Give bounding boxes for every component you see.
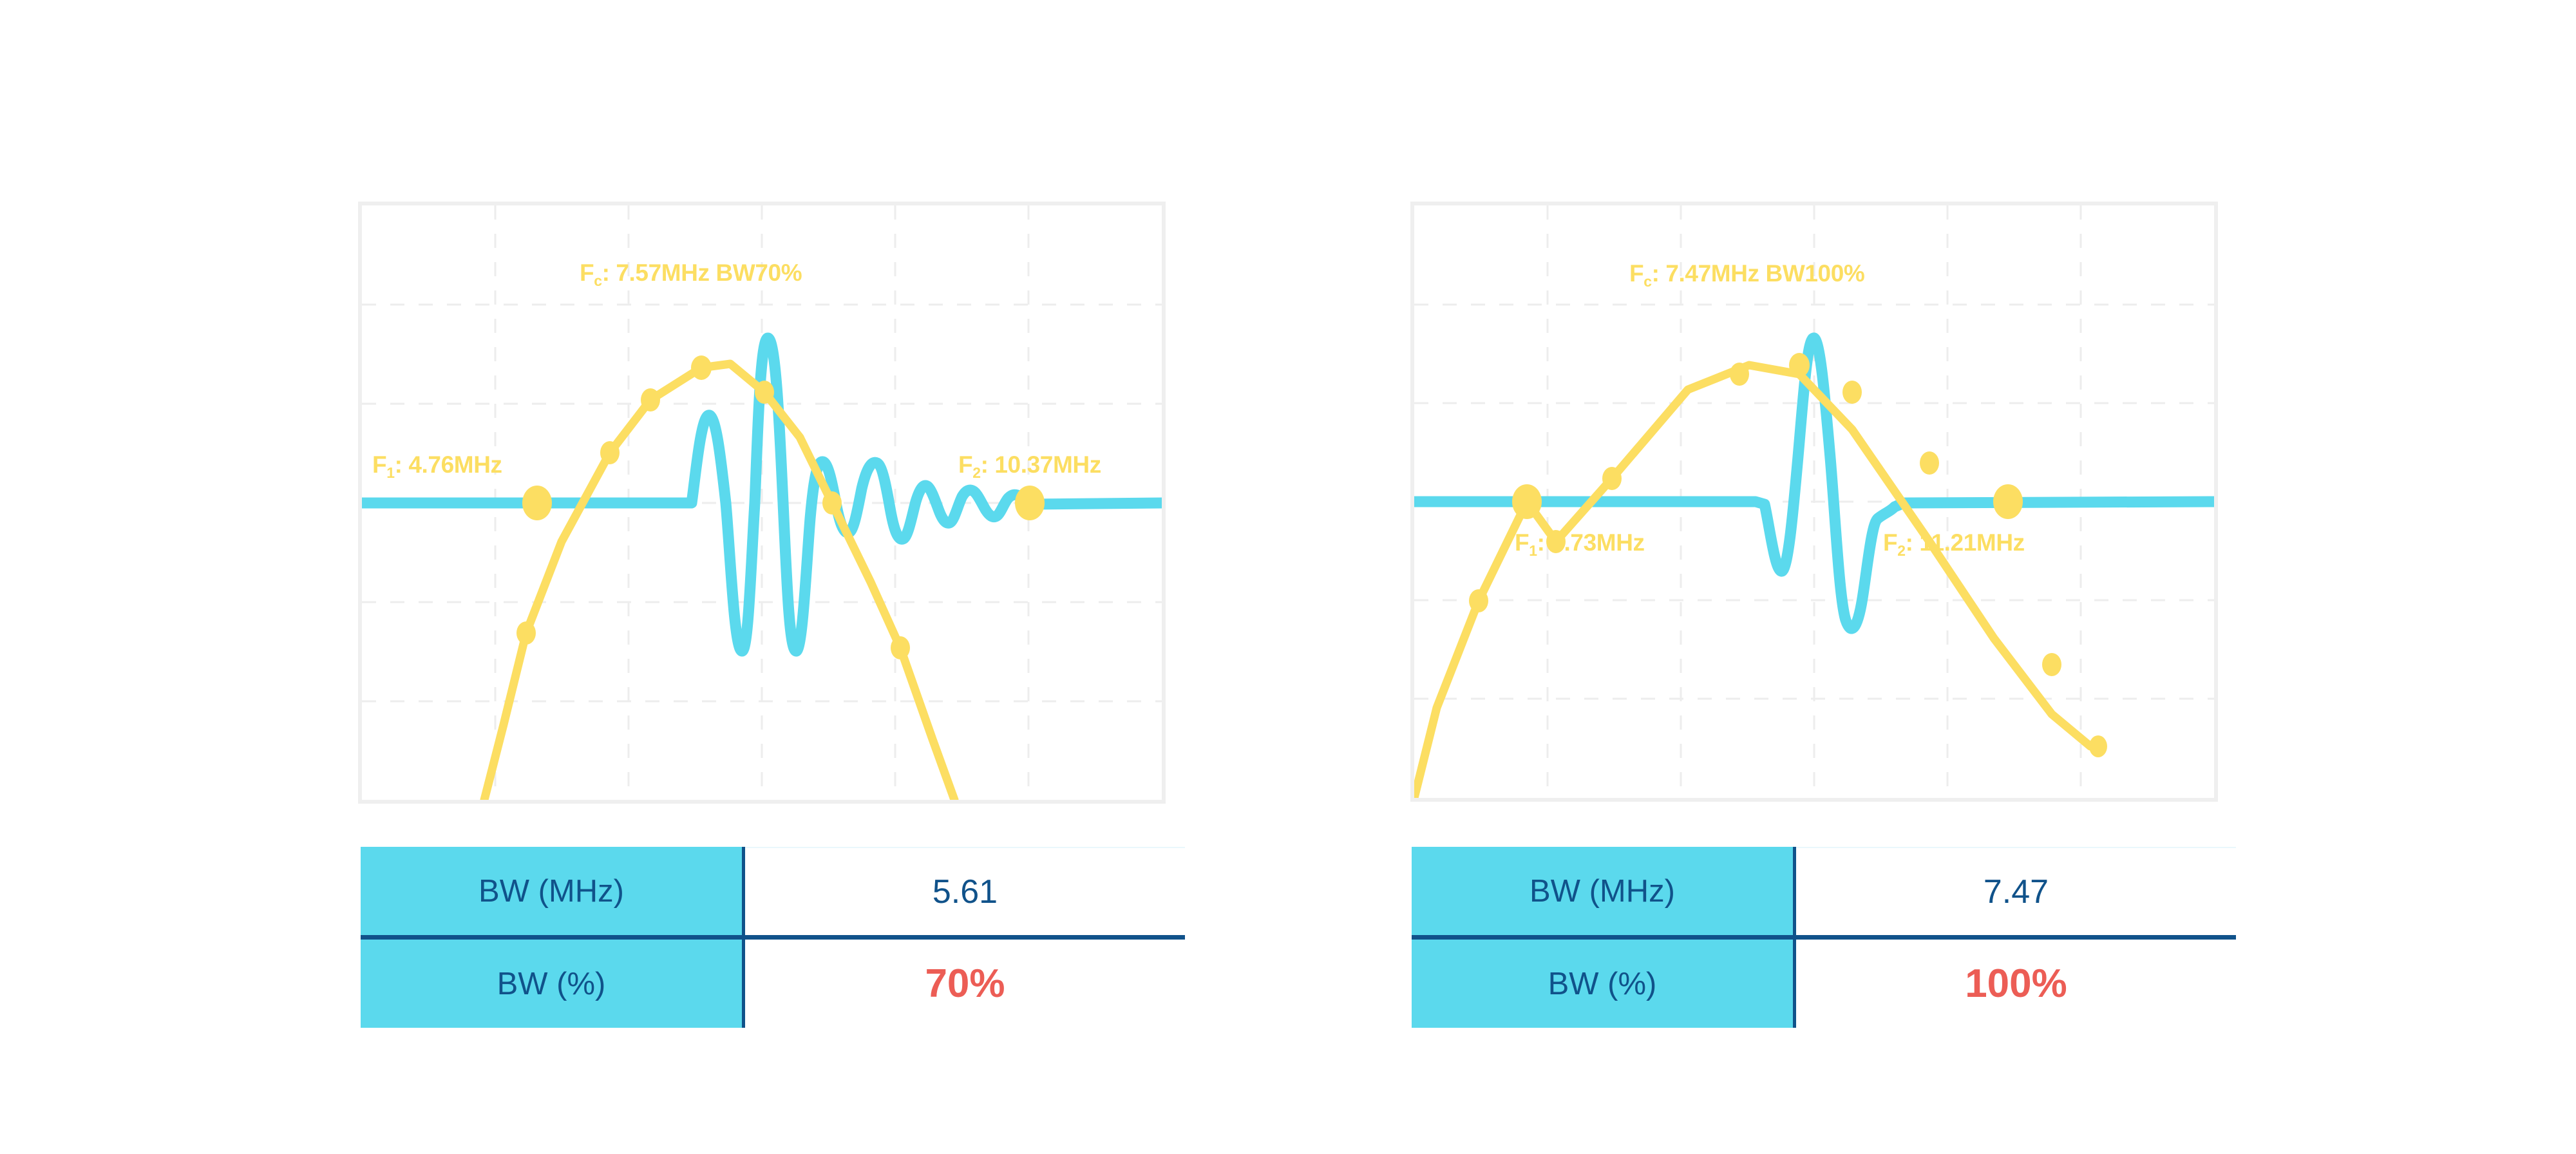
annotation-f2-prefix: F [958, 451, 972, 478]
bw-percent-label: BW (%) [361, 940, 745, 1028]
annotation-lower-cutoff: F1: 3.73MHz [1515, 529, 1645, 560]
bandwidth-table-left: BW (MHz) 5.61 BW (%) 70% [361, 847, 1185, 1028]
panel-right: Fc: 7.47MHz BW100% F1: 3.73MHz F2: 11.21… [1288, 0, 2576, 1154]
annotation-f1-text: : 3.73MHz [1537, 529, 1645, 556]
table-row: BW (MHz) 5.61 [361, 847, 1185, 935]
spectrum-svg-left [362, 205, 1162, 800]
annotation-fc-text: : 7.57MHz BW70% [602, 260, 802, 286]
table-row: BW (%) 70% [361, 935, 1185, 1028]
bw-percent-value: 70% [745, 940, 1185, 1028]
annotation-f2-prefix: F [1883, 529, 1897, 556]
table-row: BW (%) 100% [1412, 935, 2236, 1028]
table-row: BW (MHz) 7.47 [1412, 847, 2236, 935]
annotation-upper-cutoff: F2: 10.37MHz [958, 451, 1101, 482]
spectrum-svg-right [1414, 205, 2214, 798]
annotation-center-frequency: Fc: 7.57MHz BW70% [580, 260, 802, 290]
annotation-f1-prefix: F [372, 451, 386, 478]
annotation-f2-text: : 10.37MHz [981, 451, 1101, 478]
annotation-f1-subscript: 1 [1529, 542, 1537, 559]
annotation-f2-text: : 11.21MHz [1906, 529, 2025, 556]
bw-percent-value: 100% [1796, 940, 2236, 1028]
panel-left: Fc: 7.57MHz BW70% F1: 4.76MHz F2: 10.37M… [0, 0, 1288, 1154]
annotation-upper-cutoff: F2: 11.21MHz [1883, 529, 2025, 560]
annotation-fc-subscript: c [1643, 273, 1651, 290]
bw-mhz-label: BW (MHz) [1412, 847, 1796, 935]
f2-marker [1015, 486, 1045, 520]
annotation-f1-prefix: F [1515, 529, 1529, 556]
annotation-fc-prefix: F [580, 260, 594, 286]
spectrum-curve [1414, 365, 2090, 798]
annotation-f2-subscript: 2 [972, 464, 980, 481]
f1-marker [522, 486, 552, 520]
f2-marker [1993, 484, 2023, 519]
annotation-center-frequency: Fc: 7.47MHz BW100% [1629, 260, 1864, 290]
bw-mhz-value: 5.61 [745, 847, 1185, 935]
annotation-fc-prefix: F [1629, 260, 1643, 287]
annotation-f1-subscript: 1 [386, 464, 394, 481]
annotation-f1-text: : 4.76MHz [395, 451, 502, 478]
f1-marker [1512, 484, 1542, 519]
bandwidth-table-right: BW (MHz) 7.47 BW (%) 100% [1412, 847, 2236, 1028]
bw-mhz-label: BW (MHz) [361, 847, 745, 935]
annotation-fc-text: : 7.47MHz BW100% [1652, 260, 1865, 287]
annotation-lower-cutoff: F1: 4.76MHz [372, 451, 502, 482]
bw-percent-label: BW (%) [1412, 940, 1796, 1028]
bw-mhz-value: 7.47 [1796, 847, 2236, 935]
spectrum-plot-left [358, 202, 1166, 804]
spectrum-plot-right [1410, 202, 2218, 802]
annotation-f2-subscript: 2 [1897, 542, 1905, 559]
annotation-fc-subscript: c [594, 272, 601, 289]
